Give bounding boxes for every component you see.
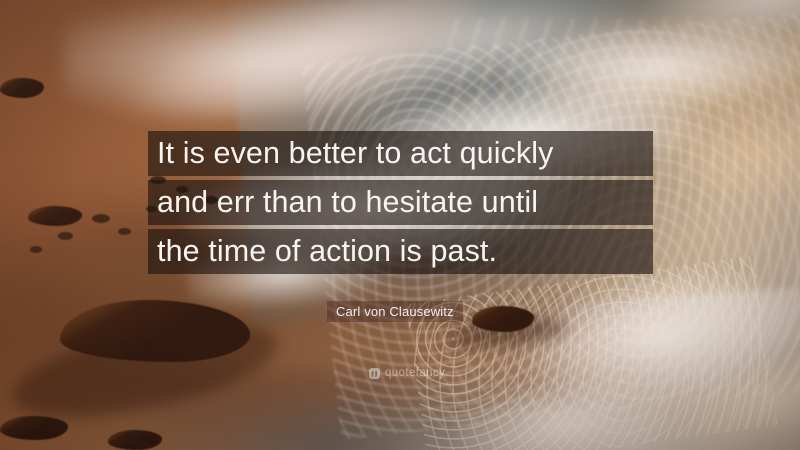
watermark-text: quotefancy	[385, 368, 445, 379]
quote-text-block: It is even better to act quickly and err…	[148, 131, 653, 274]
watermark: quotefancy	[369, 368, 445, 379]
quote-image: It is even better to act quickly and err…	[0, 0, 800, 450]
quote-line-3: the time of action is past.	[148, 229, 653, 274]
quote-line-2: and err than to hesitate until	[148, 180, 653, 225]
quote-author: Carl von Clausewitz	[327, 301, 463, 322]
quote-line-1: It is even better to act quickly	[148, 131, 653, 176]
quote-mark-icon	[369, 368, 380, 379]
